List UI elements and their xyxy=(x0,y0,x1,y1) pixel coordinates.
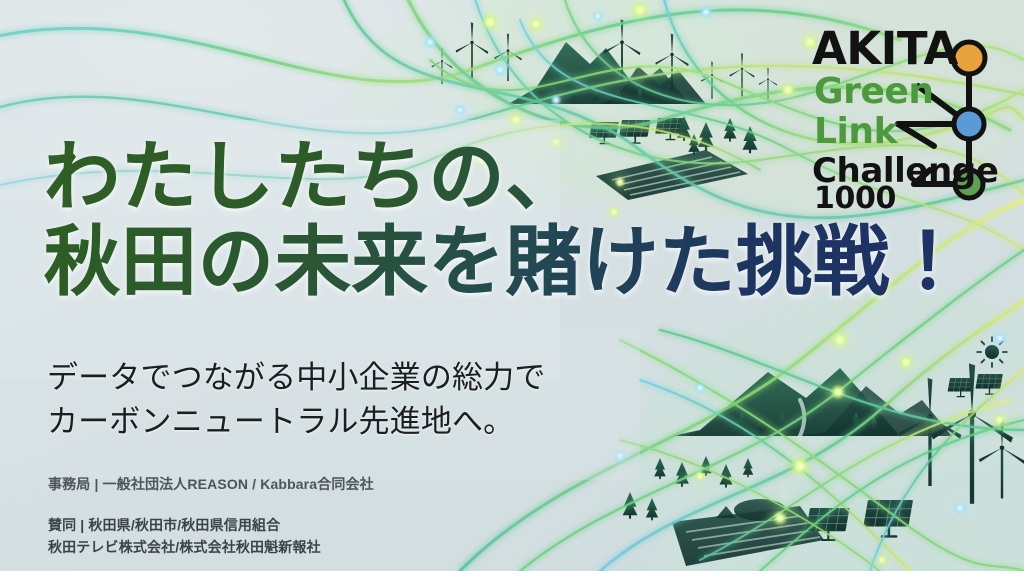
subtitle-line-2: カーボンニュートラル先進地へ。 xyxy=(47,400,545,444)
logo-text-green: Green xyxy=(814,74,934,110)
supporters-credit: 賛同 | 秋田県/秋田市/秋田県信用組合 秋田テレビ株式会社/株式会社秋田魁新報… xyxy=(48,514,321,559)
headline-line-2: 秋田の未来を賭けた挑戦！ xyxy=(44,221,967,302)
subtitle-line-1: データでつながる中小企業の総力で xyxy=(47,356,545,400)
poster-canvas: わたしたちの、 秋田の未来を賭けた挑戦！ データでつながる中小企業の総力で カー… xyxy=(0,0,1024,571)
supporters-credit-line-1: 賛同 | 秋田県/秋田市/秋田県信用組合 xyxy=(48,514,321,536)
logo-node-blue xyxy=(954,109,984,139)
artwork-bottom-scene xyxy=(623,337,1024,566)
logo-text-link: Link xyxy=(814,114,897,150)
secretariat-credit: 事務局 | 一般社団法人REASON / Kabbara合同会社 xyxy=(48,474,374,494)
subtitle: データでつながる中小企業の総力で カーボンニュートラル先進地へ。 xyxy=(47,356,545,444)
logo-text-number: 1000 xyxy=(814,184,896,214)
logo-text-akita: AKITA xyxy=(812,26,958,71)
akita-green-link-challenge-logo[interactable]: AKITA Green Link Challenge 1000 xyxy=(806,24,1004,202)
supporters-credit-line-2: 秋田テレビ株式会社/株式会社秋田魁新報社 xyxy=(48,536,321,558)
